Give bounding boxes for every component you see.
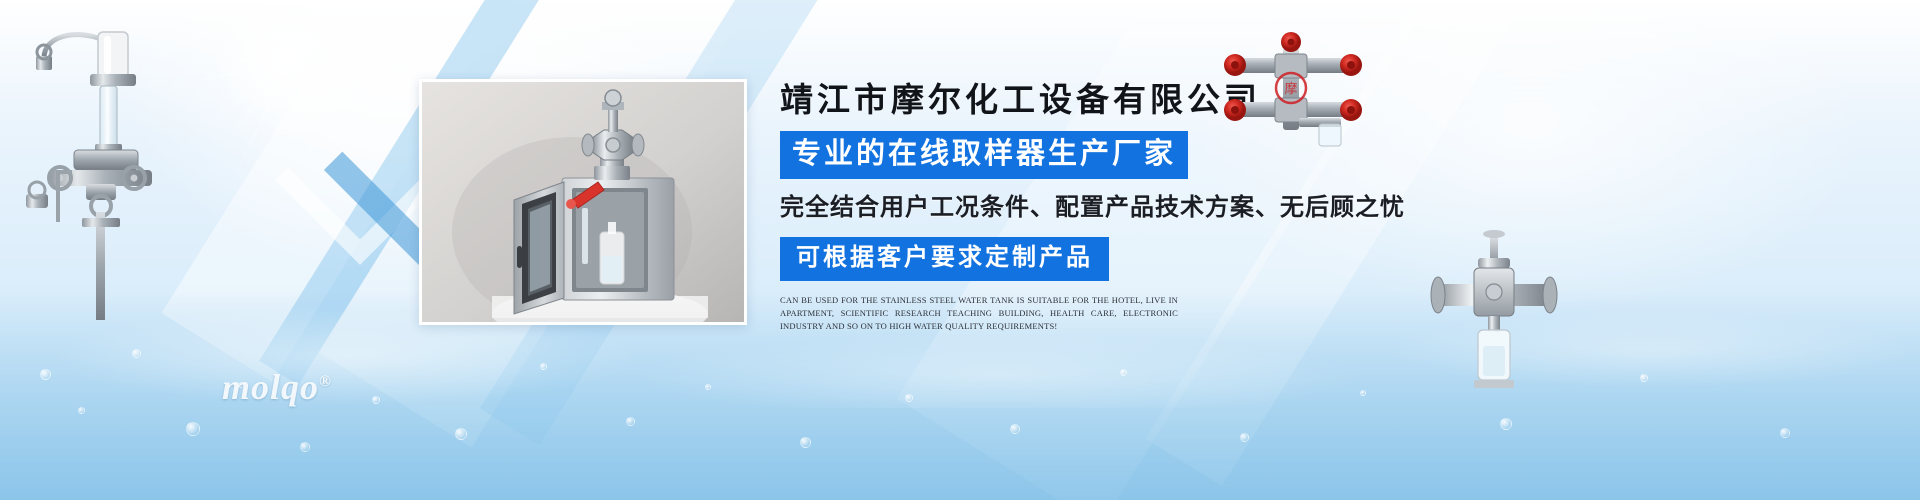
flanged-sampling-valve-icon bbox=[1915, 22, 1920, 182]
sun-ray bbox=[291, 59, 373, 80]
tagline-secondary-badge: 可根据客户要求定制产品 bbox=[780, 237, 1109, 281]
sunburst-core bbox=[200, 0, 380, 150]
sun-ray bbox=[290, 0, 324, 60]
sun-ray bbox=[290, 0, 366, 61]
sun-ray bbox=[290, 60, 316, 167]
sun-ray bbox=[216, 23, 292, 61]
english-caption: CAN BE USED FOR THE STAINLESS STEEL WATE… bbox=[780, 294, 1178, 333]
sampler-cabinet-icon bbox=[422, 82, 747, 325]
sun-ray bbox=[274, 0, 292, 60]
left-product-photo bbox=[12, 22, 172, 322]
sun-ray bbox=[290, 0, 292, 60]
sun-ray bbox=[241, 0, 292, 60]
pole-mounted-valve-assembly-icon bbox=[12, 22, 172, 322]
sun-ray bbox=[162, 59, 291, 90]
sun-ray bbox=[202, 59, 291, 61]
watermark-text: molqo bbox=[222, 367, 319, 407]
watermark-registered-mark: ® bbox=[319, 373, 332, 390]
watermark-logo: molqo® bbox=[222, 366, 332, 408]
sun-ray bbox=[242, 0, 292, 61]
sun-ray bbox=[182, 59, 291, 147]
inline-sampling-valve-icon bbox=[1430, 230, 1560, 405]
promotional-banner: 靖江市摩尔化工设备有限公司 专业的在线取样器生产厂家 完全结合用户工况条件、配置… bbox=[0, 0, 1920, 500]
sun-ray bbox=[290, 59, 363, 150]
sun-ray bbox=[291, 39, 379, 61]
sun-ray bbox=[291, 59, 418, 61]
sun-ray bbox=[266, 60, 292, 165]
description-line: 完全结合用户工况条件、配置产品技术方案、无后顾之忧 bbox=[780, 191, 1400, 225]
sun-ray bbox=[290, 59, 352, 109]
right-product-photo-3 bbox=[1430, 230, 1560, 405]
right-product-photo-2 bbox=[1915, 22, 1920, 172]
sun-ray bbox=[168, 31, 291, 61]
sun-ray bbox=[290, 0, 378, 61]
center-product-photo bbox=[419, 79, 747, 325]
sun-ray bbox=[205, 59, 291, 102]
sunburst-icon bbox=[175, 0, 405, 175]
sun-ray bbox=[290, 60, 323, 126]
svg-text:摩: 摩 bbox=[1284, 81, 1297, 96]
christmas-tree-valve-manifold-icon: 摩 bbox=[1215, 30, 1375, 150]
sun-ray bbox=[291, 1, 412, 61]
sun-ray bbox=[290, 60, 292, 130]
sun-ray bbox=[290, 0, 336, 60]
right-product-photo-1: 摩 bbox=[1215, 30, 1375, 150]
tagline-primary-badge: 专业的在线取样器生产厂家 bbox=[780, 131, 1188, 179]
sun-ray bbox=[291, 59, 401, 113]
sun-ray bbox=[228, 60, 292, 191]
sun-ray bbox=[197, 0, 292, 61]
sun-ray bbox=[227, 59, 292, 139]
